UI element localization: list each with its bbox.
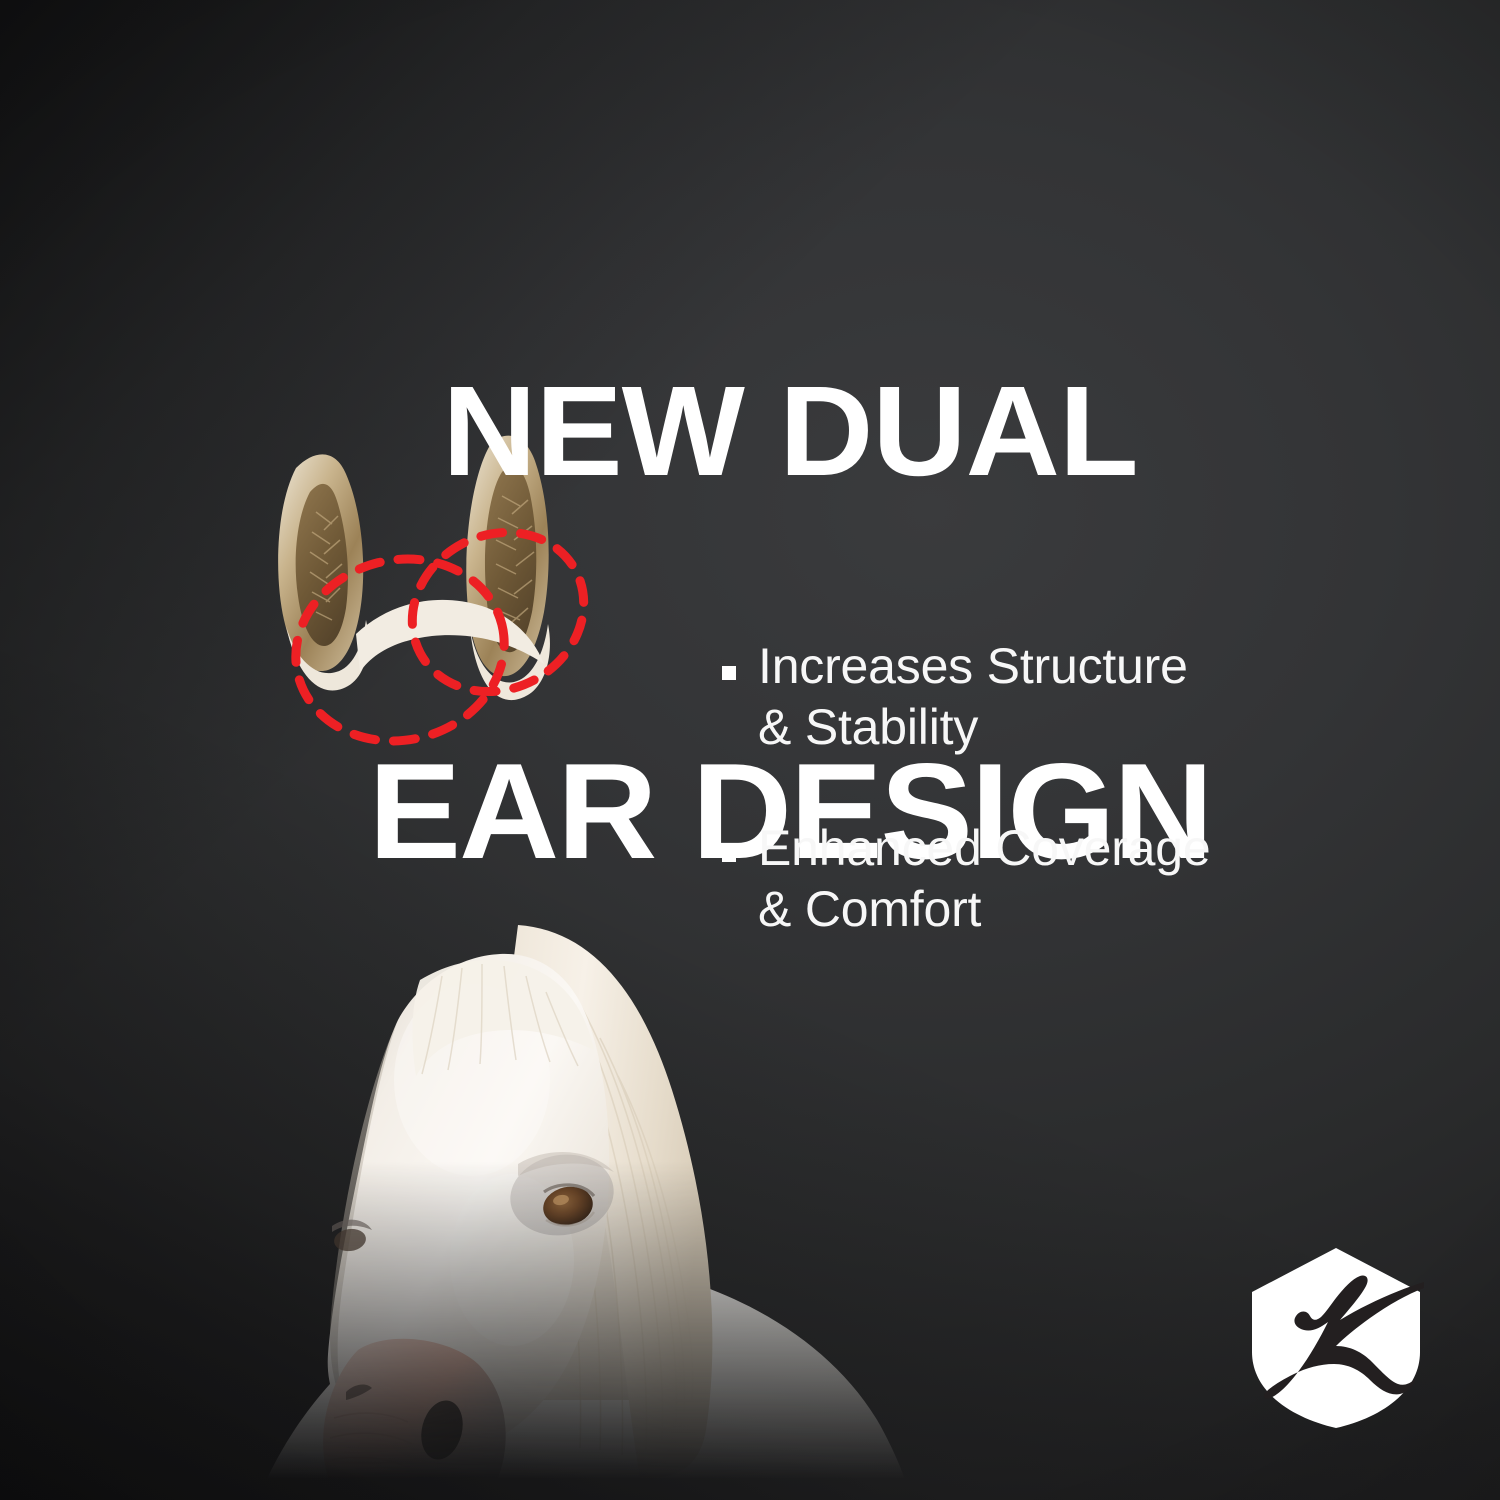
feature-line-2: & Stability <box>758 699 978 755</box>
list-item: Enhanced Coverage & Comfort <box>722 818 1412 940</box>
feature-line-1: Enhanced Coverage <box>758 820 1210 876</box>
promo-graphic-canvas: NEW DUAL EAR DESIGN Increases Structure … <box>0 0 1500 1500</box>
feature-text: Increases Structure & Stability <box>758 636 1188 758</box>
square-bullet-icon <box>722 848 736 862</box>
square-bullet-icon <box>722 666 736 680</box>
brand-logo <box>1248 1246 1424 1430</box>
feature-text: Enhanced Coverage & Comfort <box>758 818 1210 940</box>
feature-list: Increases Structure & Stability Enhanced… <box>722 636 1412 940</box>
feature-line-1: Increases Structure <box>758 638 1188 694</box>
list-item: Increases Structure & Stability <box>722 636 1412 758</box>
feature-line-2: & Comfort <box>758 881 981 937</box>
page-title: NEW DUAL EAR DESIGN <box>290 118 1290 1129</box>
headline-line-1: NEW DUAL <box>290 369 1290 494</box>
